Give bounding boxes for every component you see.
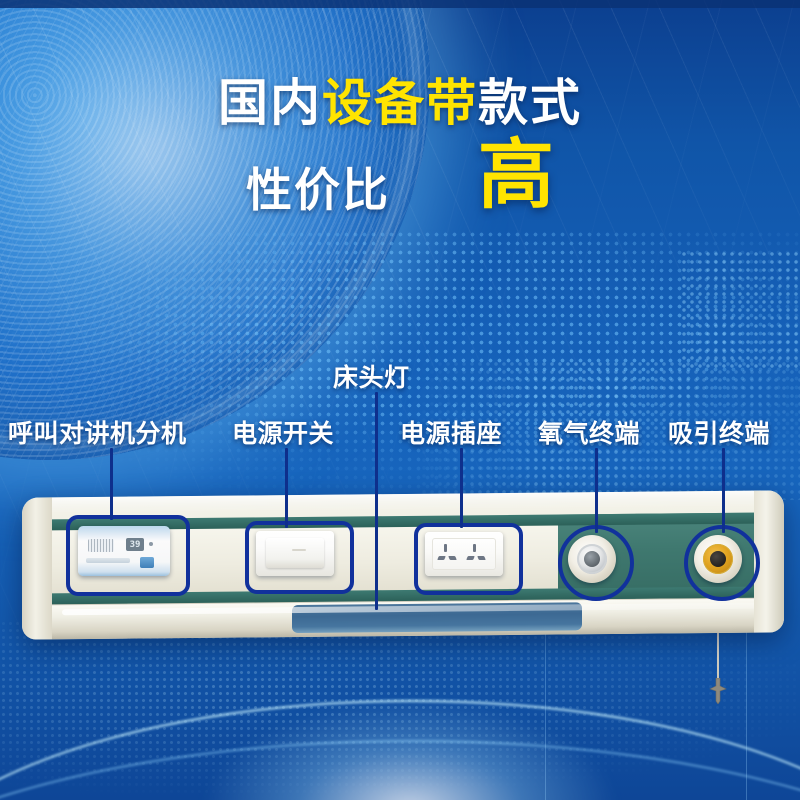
top-edge-band — [0, 0, 800, 8]
pointer-line-suction — [722, 448, 725, 533]
grid-line-right — [746, 620, 747, 800]
callout-bed-lamp: 床头灯 — [333, 358, 410, 394]
cross-fitting-icon — [708, 678, 728, 704]
callout-suction-terminal: 吸引终端 — [668, 414, 770, 450]
callout-power-socket: 电源插座 — [400, 414, 502, 450]
callout-intercom: 呼叫对讲机分机 — [8, 414, 187, 450]
headline-emphasis-big: 高 — [478, 141, 554, 209]
panel-top-highlight — [22, 490, 784, 513]
highlight-box-power-switch — [245, 521, 354, 594]
panel-end-cap-left — [22, 497, 52, 639]
headline-part-3: 款式 — [478, 74, 582, 132]
headline-line-1: 国内设备带款式 — [0, 78, 800, 128]
highlight-box-power-socket — [414, 523, 523, 595]
product-promo-image: 国内设备带款式 性价比 高 呼叫对讲机分机 电源开关 床头灯 电源插座 氧气终端… — [0, 0, 800, 800]
dot-grid-accent — [680, 250, 800, 370]
highlight-box-intercom — [66, 515, 190, 596]
headline-line-2: 性价比 高 — [0, 154, 800, 220]
headline-part-1: 国内 — [218, 74, 322, 132]
pointer-line-bed-lamp — [375, 392, 378, 610]
headline-part-2-emphasis: 设备带 — [322, 74, 478, 132]
highlight-circle-oxygen — [558, 525, 634, 601]
pointer-line-oxygen — [595, 448, 598, 533]
callout-power-switch: 电源开关 — [232, 414, 334, 450]
headline-subtext: 性价比 — [246, 154, 390, 220]
pointer-line-power-switch — [285, 448, 288, 528]
headline-block: 国内设备带款式 性价比 高 — [0, 78, 800, 220]
callout-oxygen-terminal: 氧气终端 — [538, 414, 640, 450]
grid-line-left — [545, 620, 546, 800]
highlight-circle-suction — [684, 525, 760, 601]
bottom-glow — [200, 700, 620, 800]
pointer-line-power-socket — [460, 448, 463, 528]
pointer-line-intercom — [110, 448, 113, 520]
